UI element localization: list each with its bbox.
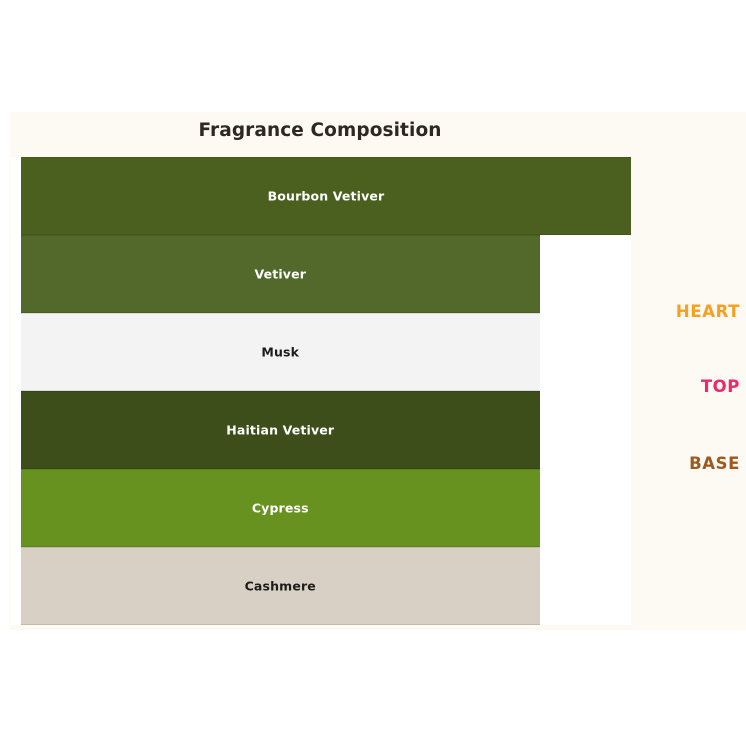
bar-label: Haitian Vetiver: [21, 423, 540, 438]
chart-title: Fragrance Composition: [10, 120, 630, 141]
bar-label: Cashmere: [21, 579, 540, 594]
bar-label: Bourbon Vetiver: [21, 189, 631, 204]
bar-segment[interactable]: Vetiver: [21, 235, 540, 313]
bar-segment[interactable]: Cashmere: [21, 547, 540, 625]
legend-label-top: TOP: [701, 377, 740, 396]
bar-row[interactable]: Cypress: [11, 469, 631, 547]
bar-label: Musk: [21, 345, 540, 360]
bar-label: Vetiver: [21, 267, 540, 282]
bar-row[interactable]: Musk: [11, 313, 631, 391]
legend-label-heart: HEART: [676, 302, 740, 321]
bar-row[interactable]: Cashmere: [11, 547, 631, 625]
bar-row[interactable]: Haitian Vetiver: [11, 391, 631, 469]
bar-row[interactable]: Bourbon Vetiver: [11, 157, 631, 235]
bar-segment[interactable]: Musk: [21, 313, 540, 391]
chart-plot-area: Bourbon VetiverVetiverMuskHaitian Vetive…: [11, 157, 631, 625]
legend-label-base: BASE: [689, 454, 740, 473]
bar-segment[interactable]: Cypress: [21, 469, 540, 547]
bar-segment[interactable]: Bourbon Vetiver: [21, 157, 631, 235]
bar-label: Cypress: [21, 501, 540, 516]
bar-row[interactable]: Vetiver: [11, 235, 631, 313]
bar-segment[interactable]: Haitian Vetiver: [21, 391, 540, 469]
fragrance-composition-card: Fragrance Composition Bourbon VetiverVet…: [10, 112, 746, 630]
